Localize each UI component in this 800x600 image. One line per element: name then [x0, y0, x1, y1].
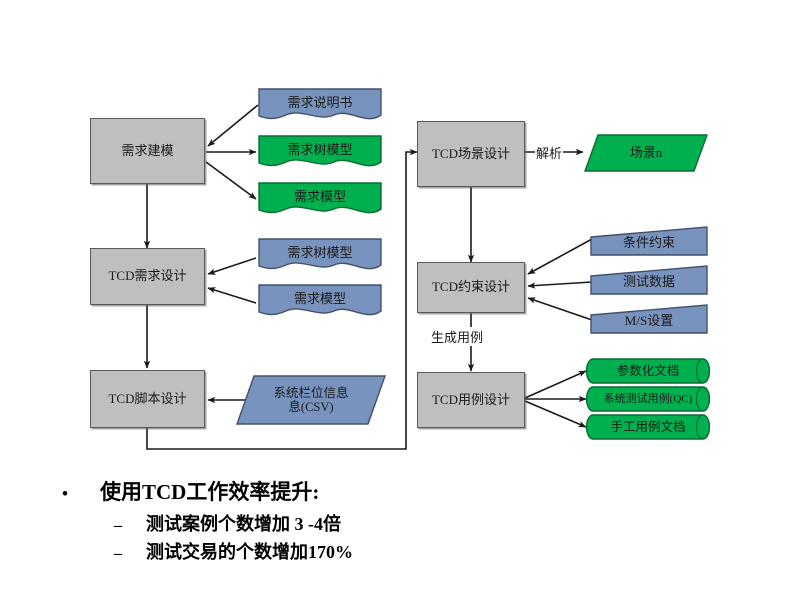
tape-label: 参数化文档 [613, 364, 684, 378]
bullet-level2-item: – 测试交易的个数增加170% [114, 538, 762, 564]
process-tcd-req-design[interactable]: TCD需求设计 [90, 248, 205, 305]
edge-testdata-to-tcdconstraint [528, 282, 592, 286]
bullet-marker: – [114, 545, 146, 563]
document-req-tree-model-2[interactable]: 需求树模型 [258, 238, 382, 275]
bullet-level2-text: 测试交易的个数增加170% [146, 538, 353, 564]
bullet-level1: • 使用TCD工作效率提升: [62, 476, 762, 506]
edge-msetting-to-tcdconstraint [528, 298, 592, 320]
process-req-modeling[interactable]: 需求建模 [90, 118, 205, 184]
edge-reqmodel-to-reqmodel1 [206, 162, 256, 199]
document-req-tree-model-1[interactable]: 需求树模型 [258, 135, 382, 172]
tape-label: 系统测试用例(QC) [600, 393, 697, 406]
document-req-model-1[interactable]: 需求模型 [258, 182, 382, 219]
document-label: 需求模型 [290, 292, 350, 307]
parallelogram-scene-n[interactable]: 场景n [584, 134, 708, 172]
skew-test-data[interactable]: 测试数据 [590, 265, 708, 295]
edge-label-generate-case: 生成用例 [430, 327, 484, 346]
edge-tcdcase-to-paramdoc [525, 371, 586, 398]
document-req-model-2[interactable]: 需求模型 [258, 284, 382, 321]
skew-ms-setting[interactable]: M/S设置 [590, 304, 708, 334]
process-tcd-scene-design[interactable]: TCD场景设计 [417, 121, 525, 187]
parallelogram-label: 场景n [626, 146, 667, 161]
edge-reqspec-to-reqmodel [208, 105, 258, 146]
bullet-level2-text: 测试案例个数增加 3 -4倍 [146, 510, 341, 536]
document-label: 需求模型 [290, 190, 350, 205]
parallelogram-csv-info[interactable]: 系统栏位信息 息(CSV) [236, 375, 386, 425]
process-label: TCD脚本设计 [104, 392, 190, 407]
skew-label: 测试数据 [619, 275, 679, 290]
bullet-level2-item: – 测试案例个数增加 3 -4倍 [114, 510, 762, 536]
bullet-marker: – [114, 517, 146, 535]
tape-label: 手工用例文档 [606, 420, 689, 434]
process-label: TCD约束设计 [428, 280, 514, 295]
process-tcd-script-design[interactable]: TCD脚本设计 [90, 370, 205, 428]
bullet-list: • 使用TCD工作效率提升: – 测试案例个数增加 3 -4倍 – 测试交易的个… [62, 476, 762, 566]
tape-manual-case[interactable]: 手工用例文档 [586, 414, 710, 440]
process-label: 需求建模 [117, 144, 177, 159]
bullet-level1-text: 使用TCD工作效率提升: [100, 476, 319, 506]
tape-sys-test-case[interactable]: 系统测试用例(QC) [586, 386, 710, 412]
process-label: TCD用例设计 [428, 393, 514, 408]
parallelogram-label: 系统栏位信息 息(CSV) [269, 386, 352, 415]
skew-label: 条件约束 [619, 236, 679, 251]
document-label: 需求树模型 [283, 143, 356, 158]
process-tcd-constraint-design[interactable]: TCD约束设计 [417, 262, 525, 313]
edge-reqtree2-to-tcdreq [208, 258, 256, 274]
edge-label-parse: 解析 [535, 143, 563, 162]
edge-reqmodel2-to-tcdreq [208, 288, 256, 303]
document-label: 需求树模型 [283, 246, 356, 261]
tape-param-doc[interactable]: 参数化文档 [586, 358, 710, 384]
document-label: 需求说明书 [283, 96, 356, 111]
edge-condition-to-tcdconstraint [528, 239, 592, 274]
skew-condition-constraint[interactable]: 条件约束 [590, 226, 708, 256]
slide-canvas: 需求建模 TCD需求设计 TCD脚本设计 TCD场景设计 TCD约束设计 TCD… [0, 0, 800, 600]
process-label: TCD场景设计 [428, 147, 514, 162]
edge-tcdcase-to-manualcase [525, 401, 586, 427]
document-req-spec[interactable]: 需求说明书 [258, 88, 382, 125]
bullet-marker: • [62, 484, 100, 504]
process-label: TCD需求设计 [104, 269, 190, 284]
process-tcd-case-design[interactable]: TCD用例设计 [417, 372, 525, 428]
skew-label: M/S设置 [621, 314, 677, 329]
